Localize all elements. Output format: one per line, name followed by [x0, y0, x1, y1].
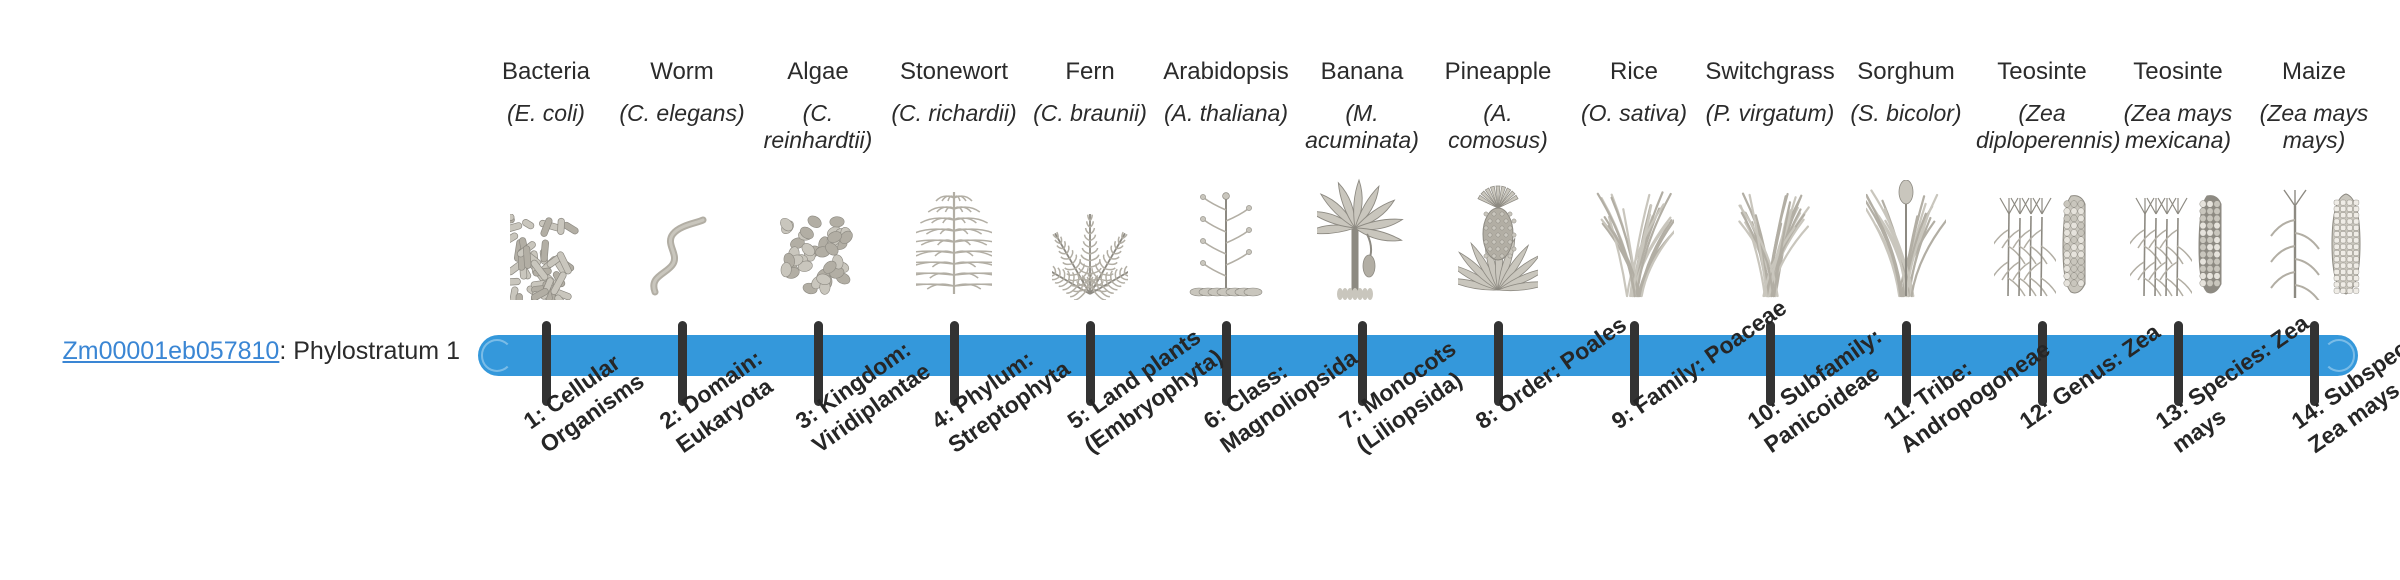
species-column-bacteria-0: Bacteria(E. coli): [478, 0, 614, 320]
species-common-name: Teosinte: [2110, 58, 2246, 86]
species-column-teosinte-12: Teosinte(Zea mays mexicana): [2110, 0, 2246, 320]
species-scientific-name: (Zea mays mexicana): [2112, 100, 2244, 154]
banana-plant-illustration: [1294, 168, 1430, 300]
algae-cells-illustration: [750, 168, 886, 300]
species-common-name: Pineapple: [1430, 58, 1566, 86]
species-scientific-name: (C. braunii): [1024, 100, 1156, 127]
species-column-stonewort-3: Stonewort(C. richardii): [886, 0, 1022, 320]
stratum-label-row: 1: Cellular Organisms2: Domain: Eukaryot…: [478, 412, 2358, 580]
species-common-name: Worm: [614, 58, 750, 86]
sorghum-plant-illustration: [1838, 168, 1974, 300]
species-common-name: Rice: [1566, 58, 1702, 86]
species-header-row: Bacteria(E. coli)Worm(C. elegans)Algae(C…: [478, 0, 2358, 320]
species-column-pineapple-7: Pineapple(A. comosus): [1430, 0, 1566, 320]
species-column-switchgrass-9: Switchgrass(P. virgatum): [1702, 0, 1838, 320]
species-common-name: Sorghum: [1838, 58, 1974, 86]
species-scientific-name: (S. bicolor): [1840, 100, 1972, 127]
species-common-name: Stonewort: [886, 58, 1022, 86]
species-scientific-name: (A. comosus): [1432, 100, 1564, 154]
row-label-separator: :: [279, 337, 293, 365]
species-scientific-name: (C. reinhardtii): [752, 100, 884, 154]
species-column-teosinte-11: Teosinte(Zea diploperennis): [1974, 0, 2110, 320]
row-stratum-text: Phylostratum 1: [293, 337, 460, 365]
nematode-worm-illustration: [614, 168, 750, 300]
species-column-banana-6: Banana(M. acuminata): [1294, 0, 1430, 320]
species-scientific-name: (P. virgatum): [1704, 100, 1836, 127]
species-scientific-name: (C. elegans): [616, 100, 748, 127]
species-column-arabidopsis-5: Arabidopsis(A. thaliana): [1158, 0, 1294, 320]
species-column-maize-13: Maize(Zea mays mays): [2246, 0, 2382, 320]
row-label: Zm00001eb057810: Phylostratum 1: [40, 336, 460, 366]
species-scientific-name: (Zea mays mays): [2248, 100, 2380, 154]
species-common-name: Teosinte: [1974, 58, 2110, 86]
species-common-name: Algae: [750, 58, 886, 86]
stonewort-illustration: [886, 168, 1022, 300]
species-common-name: Fern: [1022, 58, 1158, 86]
species-scientific-name: (M. acuminata): [1296, 100, 1428, 154]
species-common-name: Bacteria: [478, 58, 614, 86]
species-scientific-name: (C. richardii): [888, 100, 1020, 127]
species-column-algae-2: Algae(C. reinhardtii): [750, 0, 886, 320]
teosinte-plant-and-ear-illustration: [1974, 168, 2110, 300]
species-scientific-name: (A. thaliana): [1160, 100, 1292, 127]
rice-plant-illustration: [1566, 168, 1702, 300]
species-common-name: Switchgrass: [1702, 58, 1838, 86]
pineapple-plant-illustration: [1430, 168, 1566, 300]
phylostratum-figure: Zm00001eb057810: Phylostratum 1 Bacteria…: [0, 0, 2400, 580]
species-column-rice-8: Rice(O. sativa): [1566, 0, 1702, 320]
maize-plant-and-cob-illustration: [2246, 168, 2382, 300]
species-common-name: Banana: [1294, 58, 1430, 86]
bacteria-rods-illustration: [478, 168, 614, 300]
teosinte-plant-and-ear-illustration: [2110, 168, 2246, 300]
species-scientific-name: (E. coli): [480, 100, 612, 127]
species-column-sorghum-10: Sorghum(S. bicolor): [1838, 0, 1974, 320]
species-column-worm-1: Worm(C. elegans): [614, 0, 750, 320]
species-common-name: Maize: [2246, 58, 2382, 86]
bar-left-cap: [481, 339, 513, 372]
arabidopsis-illustration: [1158, 168, 1294, 300]
species-column-fern-4: Fern(C. braunii): [1022, 0, 1158, 320]
gene-id-link[interactable]: Zm00001eb057810: [62, 337, 279, 365]
fern-frond-illustration: [1022, 168, 1158, 300]
species-common-name: Arabidopsis: [1158, 58, 1294, 86]
switchgrass-illustration: [1702, 168, 1838, 300]
species-scientific-name: (Zea diploperennis): [1976, 100, 2108, 154]
species-scientific-name: (O. sativa): [1568, 100, 1700, 127]
